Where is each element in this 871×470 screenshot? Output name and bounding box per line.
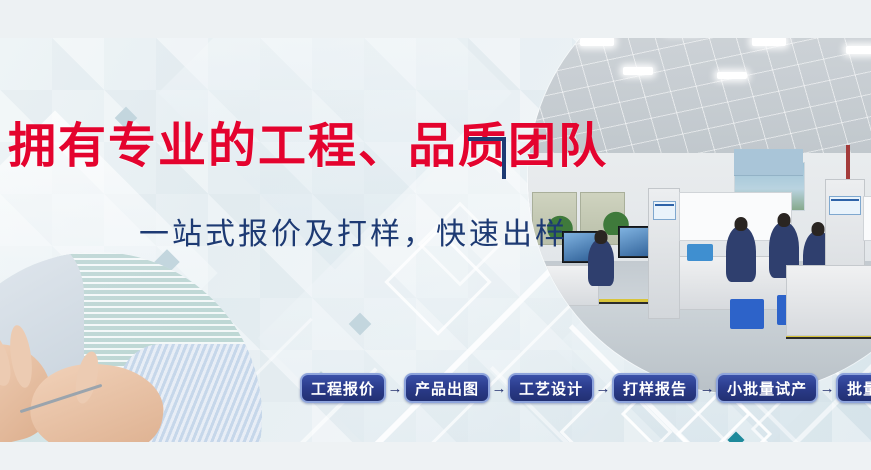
banner-page: 拥有专业的工程、品质团队 一站式报价及打样，快速出样 工程报价 → 产品出图 →… xyxy=(0,0,871,470)
flow-arrow-icon-4: → xyxy=(698,381,716,396)
hero-banner: 拥有专业的工程、品质团队 一站式报价及打样，快速出样 工程报价 → 产品出图 →… xyxy=(0,38,871,442)
flow-step-2[interactable]: 产品出图 xyxy=(404,373,490,403)
top-spacer-band xyxy=(0,0,871,38)
business-meeting-photo xyxy=(0,252,262,442)
corner-bracket-ornament xyxy=(468,137,506,179)
production-floor-photo xyxy=(528,38,871,394)
flow-arrow-icon-2: → xyxy=(490,381,508,396)
flow-arrow-icon-1: → xyxy=(386,381,404,396)
flow-step-4[interactable]: 打样报告 xyxy=(612,373,698,403)
flow-arrow-icon-3: → xyxy=(594,381,612,396)
process-flow: 工程报价 → 产品出图 → 工艺设计 → 打样报告 → 小批量试产 → 批量量产 xyxy=(300,373,871,403)
flow-arrow-icon-5: → xyxy=(818,381,836,396)
page-title: 拥有专业的工程、品质团队 xyxy=(8,122,608,173)
flow-step-1[interactable]: 工程报价 xyxy=(300,373,386,403)
page-subtitle: 一站式报价及打样，快速出样 xyxy=(139,218,568,251)
bottom-spacer-band xyxy=(0,442,871,470)
flow-step-5[interactable]: 小批量试产 xyxy=(716,373,818,403)
flow-step-6[interactable]: 批量量产 xyxy=(836,373,871,403)
flow-step-3[interactable]: 工艺设计 xyxy=(508,373,594,403)
